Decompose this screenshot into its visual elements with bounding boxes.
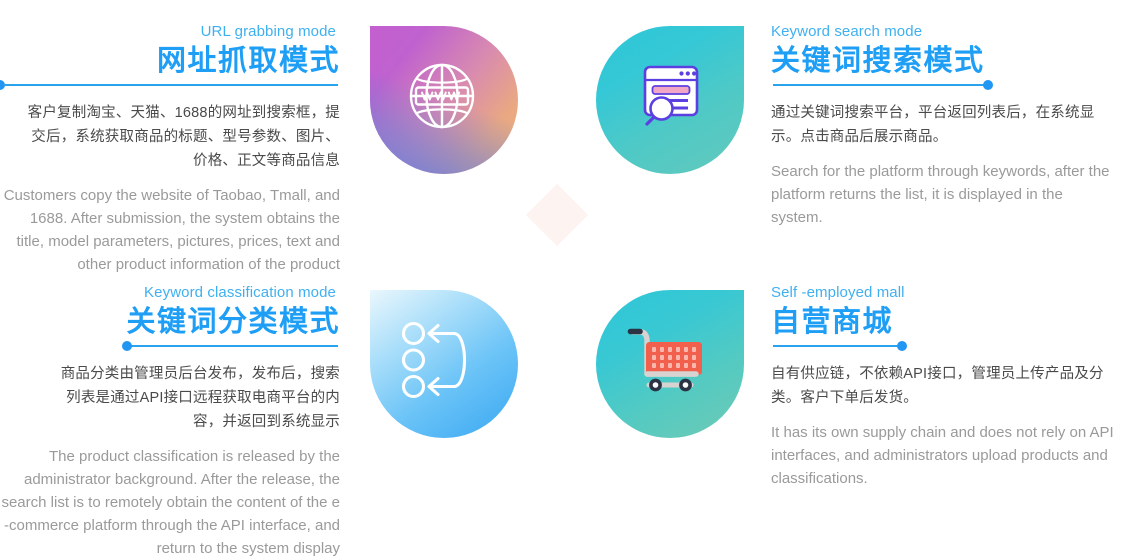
description-en-keyword-classification: The product classification is released b… [0, 445, 340, 560]
title-underline-keyword-classification [0, 341, 340, 352]
classification-glyph [398, 318, 482, 402]
underline-bar [773, 84, 985, 86]
description-en-keyword-search: Search for the platform through keywords… [771, 160, 1116, 229]
underline-dot [897, 341, 907, 351]
eyebrow-keyword-classification: Keyword classification mode [0, 283, 340, 303]
title-underline-self-employed-mall [771, 341, 1116, 352]
description-cn-keyword-classification: 商品分类由管理员后台发布，发布后，搜索列表是通过API接口远程获取电商平台的内容… [0, 362, 340, 434]
description-en-url-grabbing: Customers copy the website of Taobao, Tm… [0, 184, 340, 276]
description-cn-url-grabbing: 客户复制淘宝、天猫、1688的网址到搜索框，提交后，系统获取商品的标题、型号参数… [0, 101, 340, 173]
shopping-cart-icon [596, 290, 744, 438]
infographic-canvas: URL grabbing mode 网址抓取模式 客户复制淘宝、天猫、1688的… [0, 0, 1122, 546]
globe-glyph [399, 53, 485, 139]
description-en-self-employed-mall: It has its own supply chain and does not… [771, 421, 1116, 490]
underline-bar [5, 84, 338, 86]
feature-block-self-employed-mall: Self -employed mall 自营商城 自有供应链，不依赖API接口，… [771, 283, 1116, 490]
title-underline-keyword-search [771, 80, 1116, 91]
classification-arrows-icon [370, 290, 518, 438]
underline-dot [0, 80, 5, 90]
feature-block-url-grabbing: URL grabbing mode 网址抓取模式 客户复制淘宝、天猫、1688的… [0, 22, 340, 276]
eyebrow-url-grabbing: URL grabbing mode [0, 22, 340, 42]
browser-search-glyph [630, 56, 710, 136]
title-self-employed-mall: 自营商城 [771, 304, 1116, 340]
feature-block-keyword-search: Keyword search mode 关键词搜索模式 通过关键词搜索平台，平台… [771, 22, 1116, 229]
underline-bar [131, 345, 338, 347]
underline-dot [122, 341, 132, 351]
title-underline-url-grabbing [0, 80, 340, 91]
title-keyword-classification: 关键词分类模式 [0, 304, 340, 340]
description-cn-self-employed-mall: 自有供应链，不依赖API接口，管理员上传产品及分类。客户下单后发货。 [771, 362, 1116, 410]
underline-dot [983, 80, 993, 90]
cart-glyph [625, 322, 711, 402]
title-url-grabbing: 网址抓取模式 [0, 43, 340, 79]
browser-search-icon [596, 26, 744, 174]
underline-bar [773, 345, 899, 347]
feature-block-keyword-classification: Keyword classification mode 关键词分类模式 商品分类… [0, 283, 340, 560]
diamond-accent [526, 184, 588, 246]
globe-www-icon [370, 26, 518, 174]
description-cn-keyword-search: 通过关键词搜索平台，平台返回列表后，在系统显示。点击商品后展示商品。 [771, 101, 1116, 149]
eyebrow-self-employed-mall: Self -employed mall [771, 283, 1116, 303]
eyebrow-keyword-search: Keyword search mode [771, 22, 1116, 42]
title-keyword-search: 关键词搜索模式 [771, 43, 1116, 79]
